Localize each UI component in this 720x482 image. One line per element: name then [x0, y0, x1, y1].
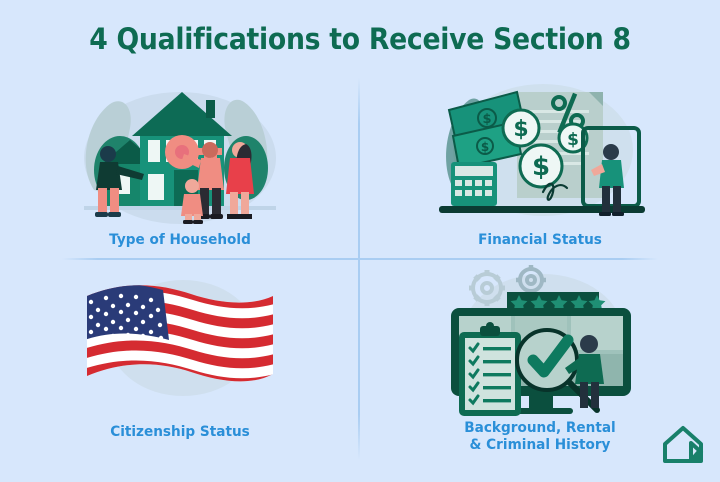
- page-title: 4 Qualifications to Receive Section 8: [29, 22, 691, 56]
- svg-text:$: $: [532, 152, 550, 182]
- caption-line-2: & Criminal History: [371, 437, 709, 454]
- house-outline-logo-icon: [660, 422, 706, 466]
- quadrant-caption-type-of-household: Type of Household: [11, 232, 349, 249]
- quadrant-citizenship-status: Citizenship Status: [0, 262, 360, 482]
- svg-text:$: $: [513, 117, 528, 142]
- quadrant-caption-citizenship-status: Citizenship Status: [11, 424, 349, 441]
- quadrant-caption-financial-status: Financial Status: [371, 232, 709, 249]
- background-check-monitor-illustration: [360, 262, 720, 422]
- caption-line-1: Type of Household: [11, 232, 349, 249]
- quadrant-financial-status: $ $ $ $ $: [360, 70, 720, 290]
- american-flag-illustration: [0, 262, 360, 422]
- infographic-page: 4 Qualifications to Receive Section 8: [0, 0, 720, 480]
- svg-text:$: $: [567, 130, 579, 150]
- house-with-family-illustration: [0, 70, 360, 230]
- quadrant-caption-background-rental-criminal-history: Background, Rental & Criminal History: [371, 420, 709, 454]
- caption-line-1: Financial Status: [371, 232, 709, 249]
- caption-line-1: Citizenship Status: [11, 424, 349, 441]
- quadrant-type-of-household: Type of Household: [0, 70, 360, 290]
- caption-line-1: Background, Rental: [371, 420, 709, 437]
- money-laptop-finance-illustration: $ $ $ $ $: [360, 70, 720, 230]
- svg-text:$: $: [481, 140, 489, 154]
- svg-text:$: $: [482, 112, 491, 127]
